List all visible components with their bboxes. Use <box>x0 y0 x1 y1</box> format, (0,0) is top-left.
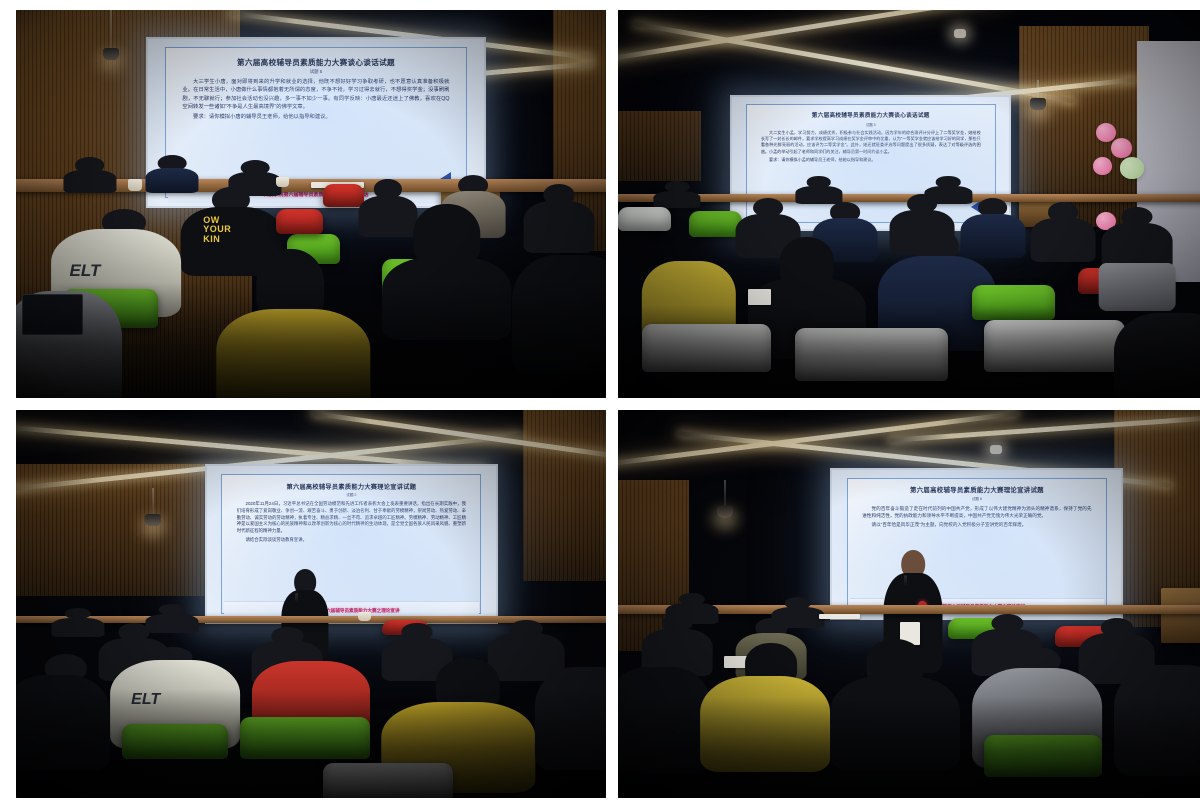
slide-subtitle: 试题 6 <box>862 497 1091 502</box>
audience-person <box>1031 202 1096 258</box>
slide-body: 大二女生小孟，学习努力，成绩优秀，积极参与社会实践活动。因为学年的综合测评计分评… <box>761 130 981 164</box>
microphone[interactable] <box>904 575 907 585</box>
audience-person <box>63 157 116 192</box>
slide-subtitle: 试题 3 <box>761 122 981 127</box>
chair-white <box>984 320 1126 372</box>
panel-top-left[interactable]: 第六届高校辅导员素质能力大赛谈心谈话试题 试题 5 大三学生小唐，面对即将到来的… <box>16 10 606 398</box>
paper-cup <box>128 179 142 190</box>
slide-subtitle: 试题 5 <box>182 69 449 75</box>
slide-title: 第六届高校辅导员素质能力大赛谈心谈话试题 <box>182 59 449 68</box>
slide-paragraph: 党的百年奋斗锻造了走在时代前列的中国共产党，形成了以伟大建党精神为源头的精神谱系… <box>862 505 1091 519</box>
panel-top-right[interactable]: 第六届高校辅导员素质能力大赛谈心谈话试题 试题 3 大二女生小孟，学习努力，成绩… <box>618 10 1200 398</box>
audience-rows <box>618 181 1200 398</box>
chair-white <box>618 207 671 231</box>
balloon-pink <box>1093 157 1112 175</box>
audience-person-puffer <box>701 643 831 760</box>
audience-person <box>830 639 960 756</box>
slide-body: 大三学生小唐，面对即将到来的升学和就业的选择，他既不想好好学习争取考研，也不愿意… <box>182 78 449 121</box>
audience-rows <box>618 588 1200 798</box>
audience-person <box>1114 302 1200 398</box>
slide-title: 第六届高校辅导员素质能力大赛理论宣讲试题 <box>862 487 1091 494</box>
audience-person <box>795 176 842 202</box>
chair-white <box>323 763 453 798</box>
projection-screen[interactable]: 第六届高校辅导员素质能力大赛理论宣讲试题 试题 2 2020年11月24日，习近… <box>205 464 498 623</box>
audience-person <box>535 654 606 763</box>
slide-body: 2020年11月24日，习近平总书记在全国劳动模范和先进工作者表彰大会上发表重要… <box>237 501 466 544</box>
slide-paragraph: 2020年11月24日，习近平总书记在全国劳动模范和先进工作者表彰大会上发表重要… <box>237 501 466 535</box>
chair-white <box>642 324 772 372</box>
pendant-lamp <box>724 480 726 507</box>
slide-paragraph: 大二女生小孟，学习努力，成绩优秀，积极参与社会实践活动。因为学年的综合测评计分评… <box>761 130 981 155</box>
chair-green <box>240 717 370 760</box>
slide-requirement: 要求：请你模拟小孟的辅导员王老师，给她以指导和建议。 <box>761 157 981 163</box>
tshirt-text: OW YOUR KIN <box>203 216 231 244</box>
audience-person <box>1114 651 1200 768</box>
chair-red <box>276 209 323 234</box>
audience-person <box>512 234 606 363</box>
paper-cup <box>276 177 289 187</box>
audience-person-puffer <box>217 249 370 398</box>
audience-person <box>51 608 104 635</box>
balloon-pink <box>1111 138 1132 158</box>
microphone[interactable] <box>295 593 298 602</box>
slide-content: 第六届高校辅导员素质能力大赛理论宣讲试题 试题 2 2020年11月24日，习近… <box>221 474 481 614</box>
photo-collage: 第六届高校辅导员素质能力大赛谈心谈话试题 试题 5 大三学生小唐，面对即将到来的… <box>0 0 1200 800</box>
audience-person <box>1102 207 1173 268</box>
slide-title: 第六届高校辅导员素质能力大赛谈心谈话试题 <box>761 113 981 119</box>
ceiling-spotlight <box>954 29 966 38</box>
ceiling-spotlight <box>990 445 1002 454</box>
slide-requirement: 要求：请你模拟小唐的辅导员王老师，给他以指导和建议。 <box>182 113 449 121</box>
audience-rows: ELT <box>16 604 606 798</box>
chair-green <box>972 285 1055 320</box>
slide-body: 党的百年奋斗锻造了走在时代前列的中国共产党，形成了以伟大建党精神为源头的精神谱系… <box>862 505 1091 528</box>
slide-title: 第六届高校辅导员素质能力大赛理论宣讲试题 <box>237 484 466 491</box>
pendant-lamp <box>152 488 154 515</box>
note-paper <box>748 289 772 304</box>
panel-bottom-right[interactable]: 第六届高校辅导员素质能力大赛理论宣讲试题 试题 6 党的百年奋斗锻造了走在时代前… <box>618 410 1200 798</box>
audience-rows: OW YOUR KIN E <box>16 150 606 398</box>
chair-green <box>689 211 742 237</box>
document-on-desk <box>819 614 860 619</box>
pendant-lamp <box>1037 80 1039 99</box>
slide-requirement: 请结合实际谈谈劳动教育宣讲。 <box>237 537 466 544</box>
tablet-device[interactable] <box>22 294 83 336</box>
chair-white <box>795 328 948 380</box>
slide-paragraph: 大三学生小唐，面对即将到来的升学和就业的选择，他既不想好好学习争取考研，也不愿意… <box>182 78 449 111</box>
pendant-lamp-left <box>110 10 112 49</box>
audience-person-puffer <box>382 658 535 778</box>
wood-wall-right <box>523 410 606 581</box>
jacket-logo: ELT <box>131 691 160 709</box>
chair-green <box>122 724 228 759</box>
audience-person <box>16 654 110 759</box>
audience-person <box>382 204 512 323</box>
panel-bottom-left[interactable]: 第六届高校辅导员素质能力大赛理论宣讲试题 试题 2 2020年11月24日，习近… <box>16 410 606 798</box>
audience-person <box>653 181 700 207</box>
audience-person <box>618 651 712 764</box>
slide-subtitle: 试题 2 <box>237 493 466 498</box>
balloon-pink <box>1096 123 1116 142</box>
slide-requirement: 请以"百年恰是风华正茂"为主题，向党校的入党积极分子宣讲党的百年辉煌。 <box>862 521 1091 528</box>
balloon-green <box>1120 157 1145 179</box>
paper-cup <box>358 612 371 622</box>
chair-green <box>984 735 1102 777</box>
